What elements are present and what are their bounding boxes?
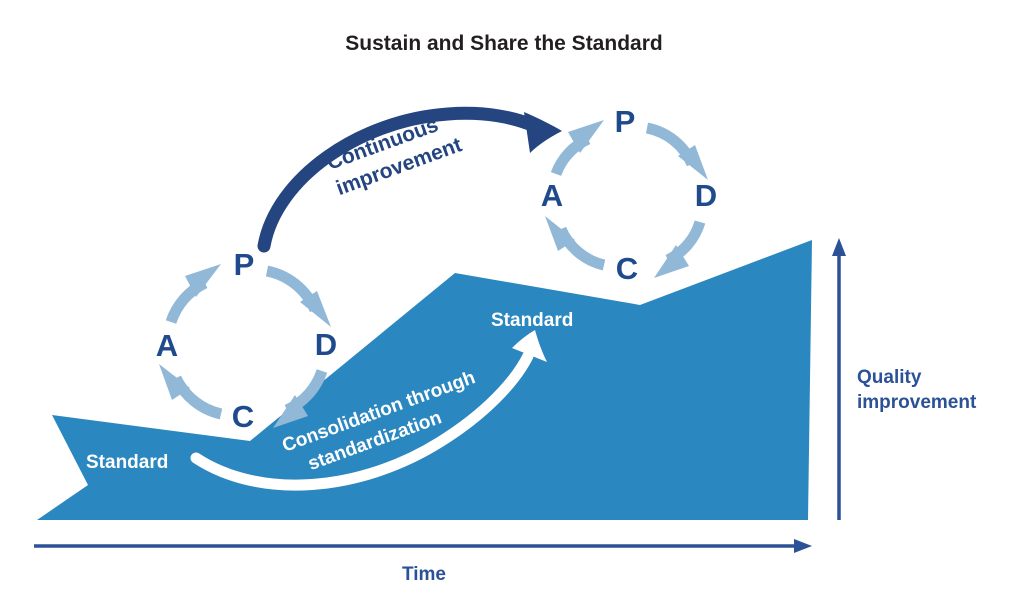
pdca-arrow-d-to-c-upper (654, 222, 700, 278)
quality-axis-label-line1: Quality (857, 367, 922, 388)
quality-axis-arrowhead (832, 238, 846, 256)
pdca-letter-c-upper: C (616, 251, 638, 286)
pdca-letter-d: D (315, 327, 337, 362)
quality-ramp-shape (37, 240, 812, 520)
ramp-fill (37, 240, 812, 520)
pdca-arrow-p-to-d-upper (647, 128, 708, 180)
pdca-arrow-c-to-a-upper (545, 216, 604, 265)
pdca-letter-a: A (156, 328, 178, 363)
upper-right-pdca-cycle: P D C A (541, 104, 717, 286)
quality-axis-label-line2: improvement (857, 392, 977, 413)
time-axis-label: Time (402, 564, 446, 585)
pdca-letter-p: P (234, 247, 255, 282)
standard-label-lower: Standard (86, 452, 168, 473)
pdca-letter-d-upper: D (695, 178, 717, 213)
pdca-letter-c: C (232, 399, 254, 434)
standard-label-upper: Standard (491, 310, 573, 331)
pdca-arrow-a-to-p-upper (556, 120, 604, 174)
pdca-arrow-p-to-d (267, 271, 331, 327)
pdca-letter-a-upper: A (541, 178, 563, 213)
time-axis-arrowhead (794, 539, 812, 553)
diagram-canvas: Sustain and Share the Standard (0, 0, 1024, 602)
page-title: Sustain and Share the Standard (345, 32, 662, 55)
sustain-share-standard-diagram: Sustain and Share the Standard (0, 0, 1024, 602)
pdca-arrow-c-to-a (159, 364, 221, 414)
pdca-letter-p-upper: P (615, 104, 636, 139)
time-axis: Time (34, 539, 812, 585)
quality-axis: Quality improvement (832, 238, 977, 520)
pdca-arrow-a-to-p (171, 264, 221, 322)
